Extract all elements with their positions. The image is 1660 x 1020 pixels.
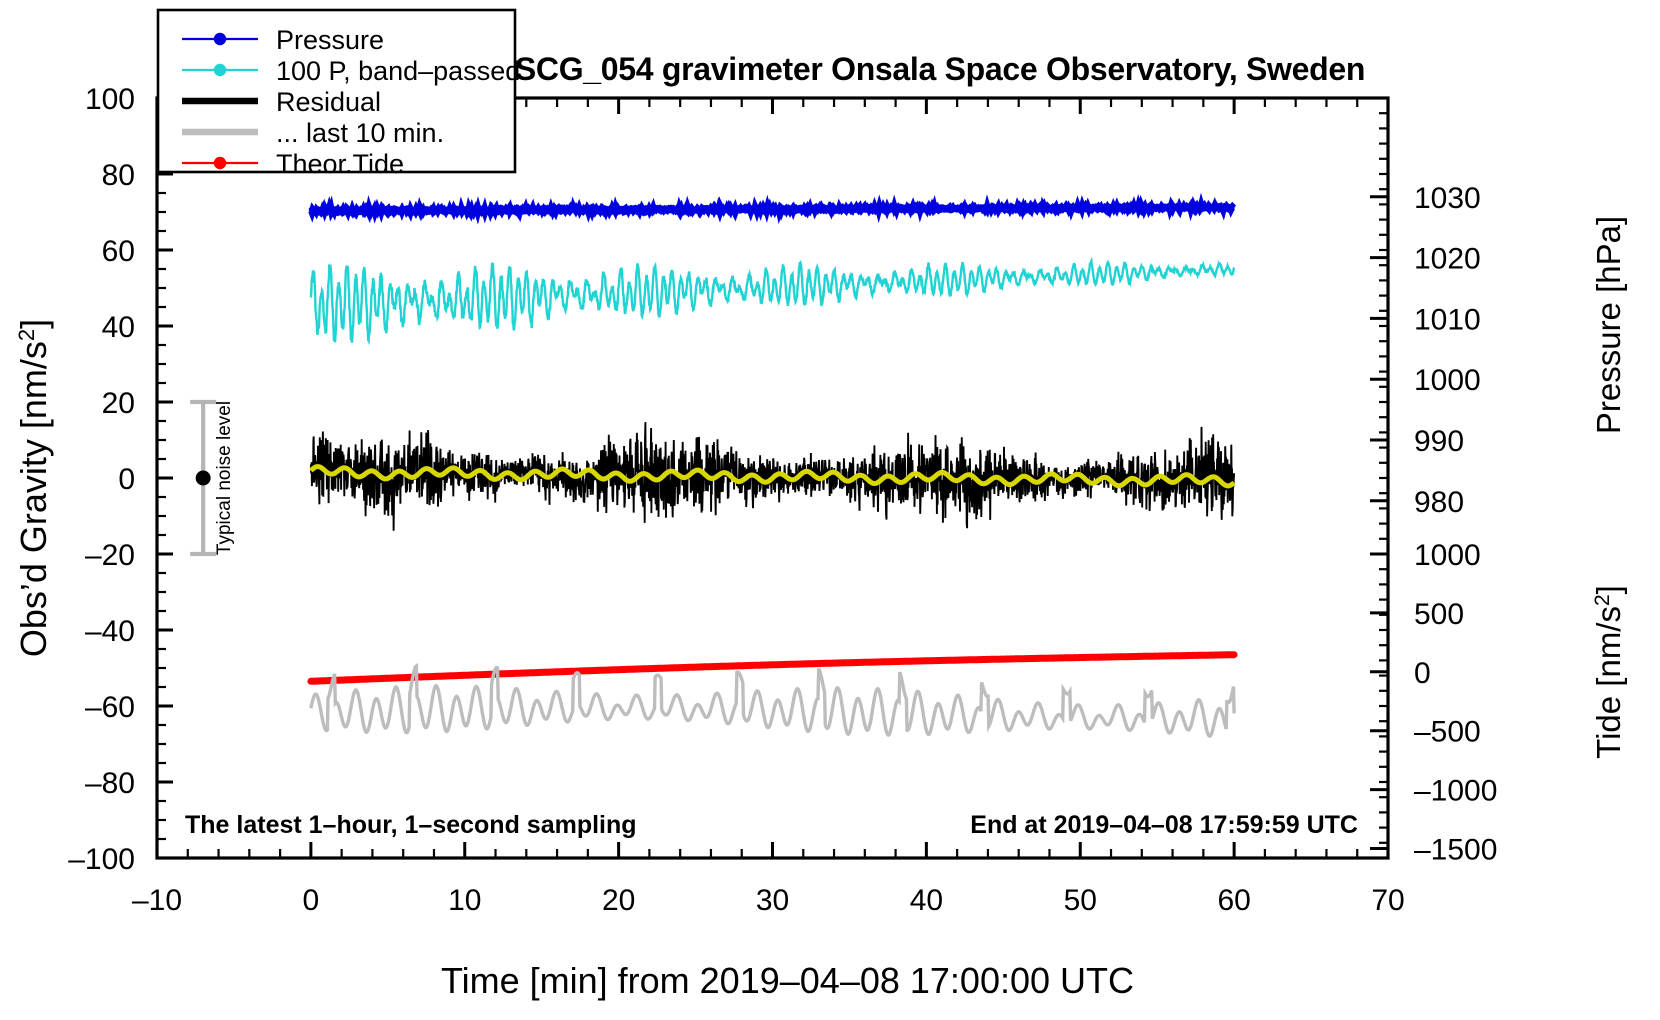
legend-label: Pressure	[276, 25, 384, 55]
x-tick-label: 40	[910, 884, 943, 917]
tide-tick-label: –1000	[1414, 775, 1497, 808]
trace-theor-tide	[311, 655, 1234, 682]
tide-tick-label: –1500	[1414, 834, 1497, 867]
y-tick-label: –40	[85, 615, 135, 648]
y-tick-label: 100	[85, 83, 135, 116]
x-tick-label: 20	[602, 884, 635, 917]
data-traces	[311, 206, 1234, 736]
annotation-right: End at 2019–04–08 17:59:59 UTC	[970, 811, 1358, 839]
gravimeter-plot: –10010203040506070Time [min] from 2019–0…	[0, 0, 1660, 1020]
legend-label: Theor.Tide	[276, 149, 404, 179]
x-tick-label: 0	[303, 884, 320, 917]
legend: Pressure100 P, band–passedResidual... la…	[158, 10, 520, 179]
legend-marker	[214, 33, 226, 45]
pressure-tick-label: 1030	[1414, 182, 1481, 215]
legend-label: 100 P, band–passed	[276, 56, 520, 86]
x-tick-label: 60	[1217, 884, 1250, 917]
x-tick-label: 10	[448, 884, 481, 917]
noise-level-label: Typical noise level	[214, 401, 235, 555]
x-tick-label: 50	[1064, 884, 1097, 917]
y-tick-label: 60	[102, 235, 135, 268]
y-tick-label: 80	[102, 159, 135, 192]
pressure-axis-title: Pressure [hPa]	[1590, 216, 1627, 434]
pressure-tick-label: 1020	[1414, 243, 1481, 276]
x-axis: –10010203040506070	[132, 98, 1405, 917]
pressure-tick-label: 980	[1414, 486, 1464, 519]
tide-tick-label: 500	[1414, 598, 1464, 631]
annotation-left: The latest 1–hour, 1–second sampling	[185, 811, 637, 839]
tide-tick-label: –500	[1414, 716, 1481, 749]
legend-marker	[214, 157, 226, 169]
y-tick-label: 40	[102, 311, 135, 344]
legend-label: ... last 10 min.	[276, 118, 444, 148]
x-tick-label: 30	[756, 884, 789, 917]
pressure-tick-label: 1010	[1414, 303, 1481, 336]
y-tick-label: 20	[102, 387, 135, 420]
pressure-tick-label: 990	[1414, 425, 1464, 458]
y-tick-label: –80	[85, 767, 135, 800]
tide-axis-title: Tide [nm/s2]	[1590, 585, 1627, 759]
svg-text:Tide [nm/s2]: Tide [nm/s2]	[1590, 585, 1627, 759]
y-tick-label: 0	[118, 463, 135, 496]
page-title: SCG_054 gravimeter Onsala Space Observat…	[515, 51, 1365, 87]
trace-band-passed	[311, 261, 1234, 343]
y-tick-label: –100	[68, 843, 135, 876]
y-tick-label: –20	[85, 539, 135, 572]
tide-tick-label: 0	[1414, 657, 1431, 690]
typical-noise-level-indicator: Typical noise level	[190, 401, 235, 555]
legend-marker	[214, 64, 226, 76]
trace-pressure	[311, 206, 1234, 212]
legend-label: Residual	[276, 87, 381, 117]
tide-tick-label: 1000	[1414, 539, 1481, 572]
x-tick-label: 70	[1371, 884, 1404, 917]
y-tick-label: –60	[85, 691, 135, 724]
x-tick-label: –10	[132, 884, 182, 917]
y-axis-left-title: Obs’d Gravity [nm/s2]	[13, 319, 54, 657]
noise-center-dot	[196, 471, 211, 486]
svg-text:Obs’d Gravity [nm/s2]: Obs’d Gravity [nm/s2]	[13, 319, 54, 657]
x-axis-title: Time [min] from 2019–04–08 17:00:00 UTC	[441, 960, 1134, 1001]
pressure-tick-label: 1000	[1414, 364, 1481, 397]
